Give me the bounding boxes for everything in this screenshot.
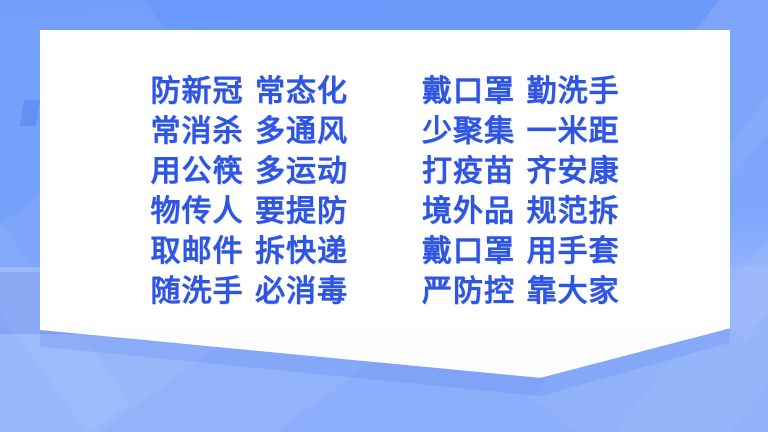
- slogan-columns: 防新冠 常态化 常消杀 多通风 用公筷 多运动 物传人 要提防 取邮件 拆快递 …: [151, 72, 620, 312]
- slogan-line: 打疫苗 齐安康: [422, 152, 619, 192]
- slogan-line: 戴口罩 用手套: [422, 232, 619, 272]
- slogan-line: 境外品 规范拆: [422, 192, 619, 232]
- slide-canvas: 防新冠 常态化 常消杀 多通风 用公筷 多运动 物传人 要提防 取邮件 拆快递 …: [0, 0, 768, 432]
- slogan-line: 戴口罩 勤洗手: [422, 72, 619, 112]
- slogan-line: 少聚集 一米距: [422, 112, 619, 152]
- slogan-line: 随洗手 必消毒: [151, 272, 348, 312]
- slogan-line: 用公筷 多运动: [151, 152, 348, 192]
- slogan-line: 取邮件 拆快递: [151, 232, 348, 272]
- slogan-line: 严防控 靠大家: [422, 272, 619, 312]
- slogan-line: 常消杀 多通风: [151, 112, 348, 152]
- slogan-column-right: 戴口罩 勤洗手 少聚集 一米距 打疫苗 齐安康 境外品 规范拆 戴口罩 用手套 …: [422, 72, 619, 312]
- slogan-line: 防新冠 常态化: [151, 72, 348, 112]
- slogan-area: 防新冠 常态化 常消杀 多通风 用公筷 多运动 物传人 要提防 取邮件 拆快递 …: [40, 30, 730, 385]
- slogan-line: 物传人 要提防: [151, 192, 348, 232]
- slogan-column-left: 防新冠 常态化 常消杀 多通风 用公筷 多运动 物传人 要提防 取邮件 拆快递 …: [151, 72, 348, 312]
